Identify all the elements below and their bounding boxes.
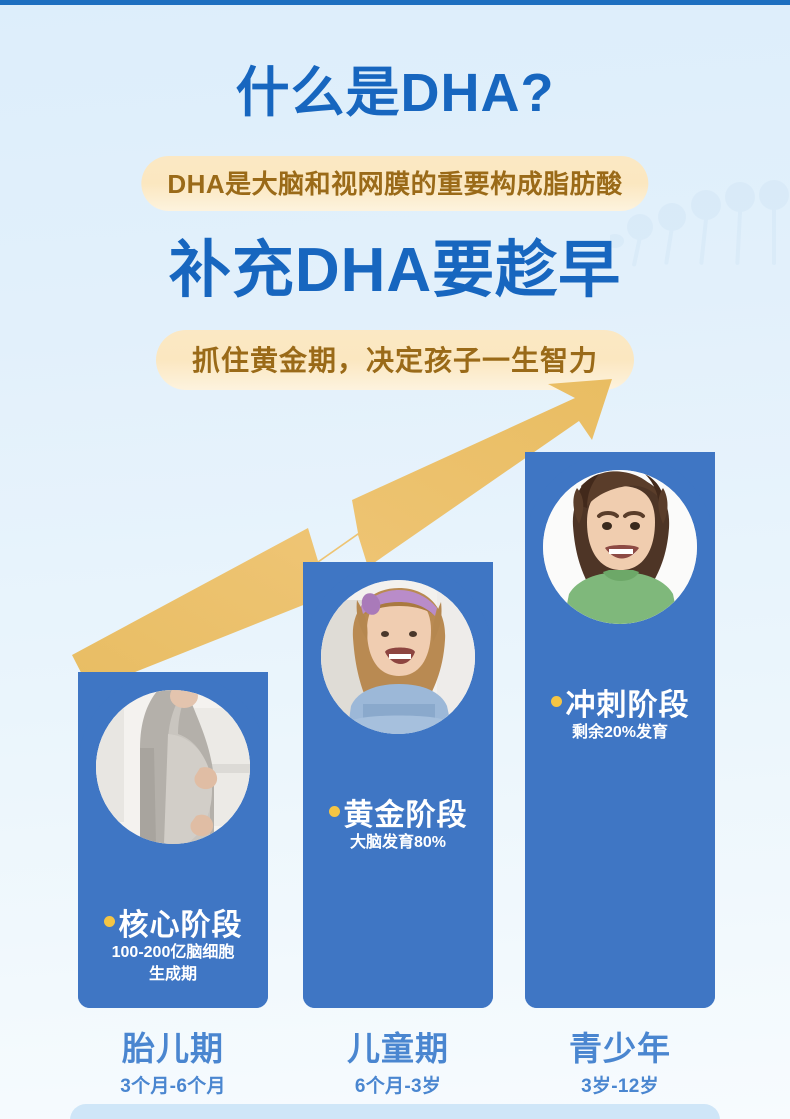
axis-range-adolescent: 3岁-12岁 bbox=[525, 1071, 715, 1098]
bullet-dot-icon bbox=[329, 806, 340, 817]
axis-title-fetal: 胎儿期 bbox=[78, 1030, 268, 1068]
axis-title-adolescent: 青少年 bbox=[525, 1030, 715, 1068]
bullet-dot-icon bbox=[551, 696, 562, 707]
stage-description-core: 100-200亿脑细胞 生成期 bbox=[78, 942, 268, 985]
axis-label-group-fetal: 胎儿期 3个月-6个月 bbox=[78, 1030, 268, 1098]
axis-range-fetal: 3个月-6个月 bbox=[78, 1071, 268, 1098]
bullet-dot-icon bbox=[104, 916, 115, 927]
axis-title-childhood: 儿童期 bbox=[303, 1030, 493, 1068]
stage-photo-pregnant-woman bbox=[96, 690, 250, 844]
axis-label-group-adolescent: 青少年 3岁-12岁 bbox=[525, 1030, 715, 1098]
stage-label-sprint: 冲刺阶段 bbox=[525, 680, 715, 724]
stage-card-core[interactable]: 核心阶段 100-200亿脑细胞 生成期 bbox=[78, 672, 268, 1008]
stage-card-sprint[interactable]: 冲刺阶段 剩余20%发育 bbox=[525, 452, 715, 1008]
stage-label-golden: 黄金阶段 bbox=[303, 790, 493, 834]
stage-photo-young-boy bbox=[543, 470, 697, 624]
next-section-panel bbox=[70, 1104, 720, 1119]
stage-cards-container: 核心阶段 100-200亿脑细胞 生成期 bbox=[0, 0, 790, 1119]
stage-description-sprint: 剩余20%发育 bbox=[525, 722, 715, 744]
axis-label-group-childhood: 儿童期 6个月-3岁 bbox=[303, 1030, 493, 1098]
stage-label-core: 核心阶段 bbox=[78, 900, 268, 944]
stage-card-golden[interactable]: 黄金阶段 大脑发育80% bbox=[303, 562, 493, 1008]
stage-photo-toddler-girl bbox=[321, 580, 475, 734]
stage-description-golden: 大脑发育80% bbox=[303, 832, 493, 854]
axis-range-childhood: 6个月-3岁 bbox=[303, 1071, 493, 1098]
